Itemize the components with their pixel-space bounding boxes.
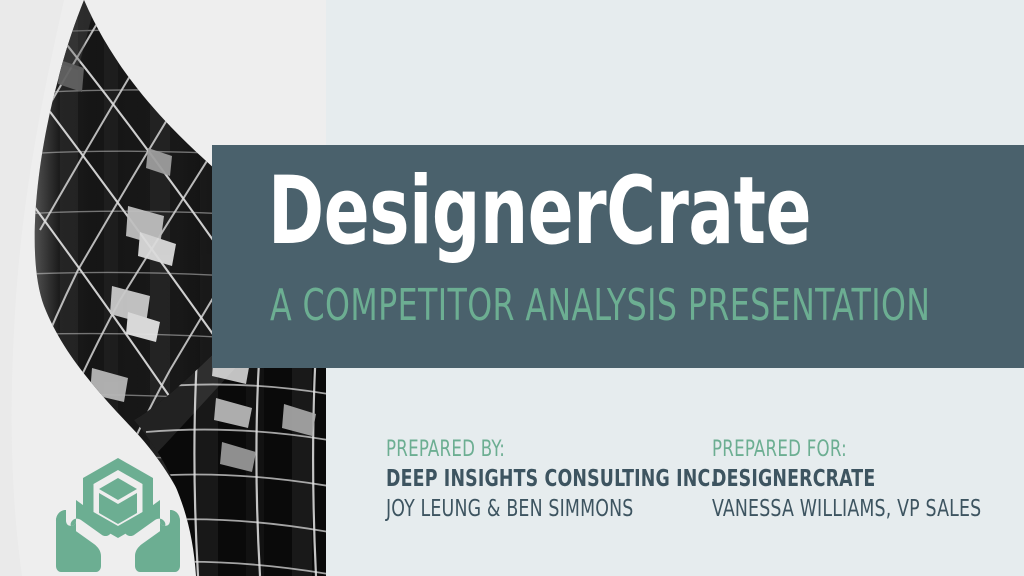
prepared-by-label: PREPARED BY: (386, 436, 621, 464)
prepared-by-column: PREPARED BY: DEEP INSIGHTS CONSULTING IN… (386, 436, 666, 546)
prepared-for-column: PREPARED FOR: DESIGNERCRATE VANESSA WILL… (712, 436, 992, 546)
page-subtitle: A COMPETITOR ANALYSIS PRESENTATION (270, 284, 930, 328)
prepared-by-people: JOY LEUNG & BEN SIMMONS (386, 494, 621, 524)
prepared-by-organization: DEEP INSIGHTS CONSULTING INC. (386, 464, 621, 494)
title-band: DesignerCrate A COMPETITOR ANALYSIS PRES… (212, 145, 1024, 368)
prepared-for-people: VANESSA WILLIAMS, VP SALES (712, 494, 947, 524)
prepared-for-organization: DESIGNERCRATE (712, 464, 947, 494)
prepared-for-label: PREPARED FOR: (712, 436, 947, 464)
page-title: DesignerCrate (268, 165, 811, 259)
credits-block: PREPARED BY: DEEP INSIGHTS CONSULTING IN… (386, 436, 986, 546)
presentation-title-slide: DesignerCrate A COMPETITOR ANALYSIS PRES… (0, 0, 1024, 576)
hands-holding-box-logo (52, 448, 184, 572)
hands-holding-box-icon (52, 448, 184, 572)
